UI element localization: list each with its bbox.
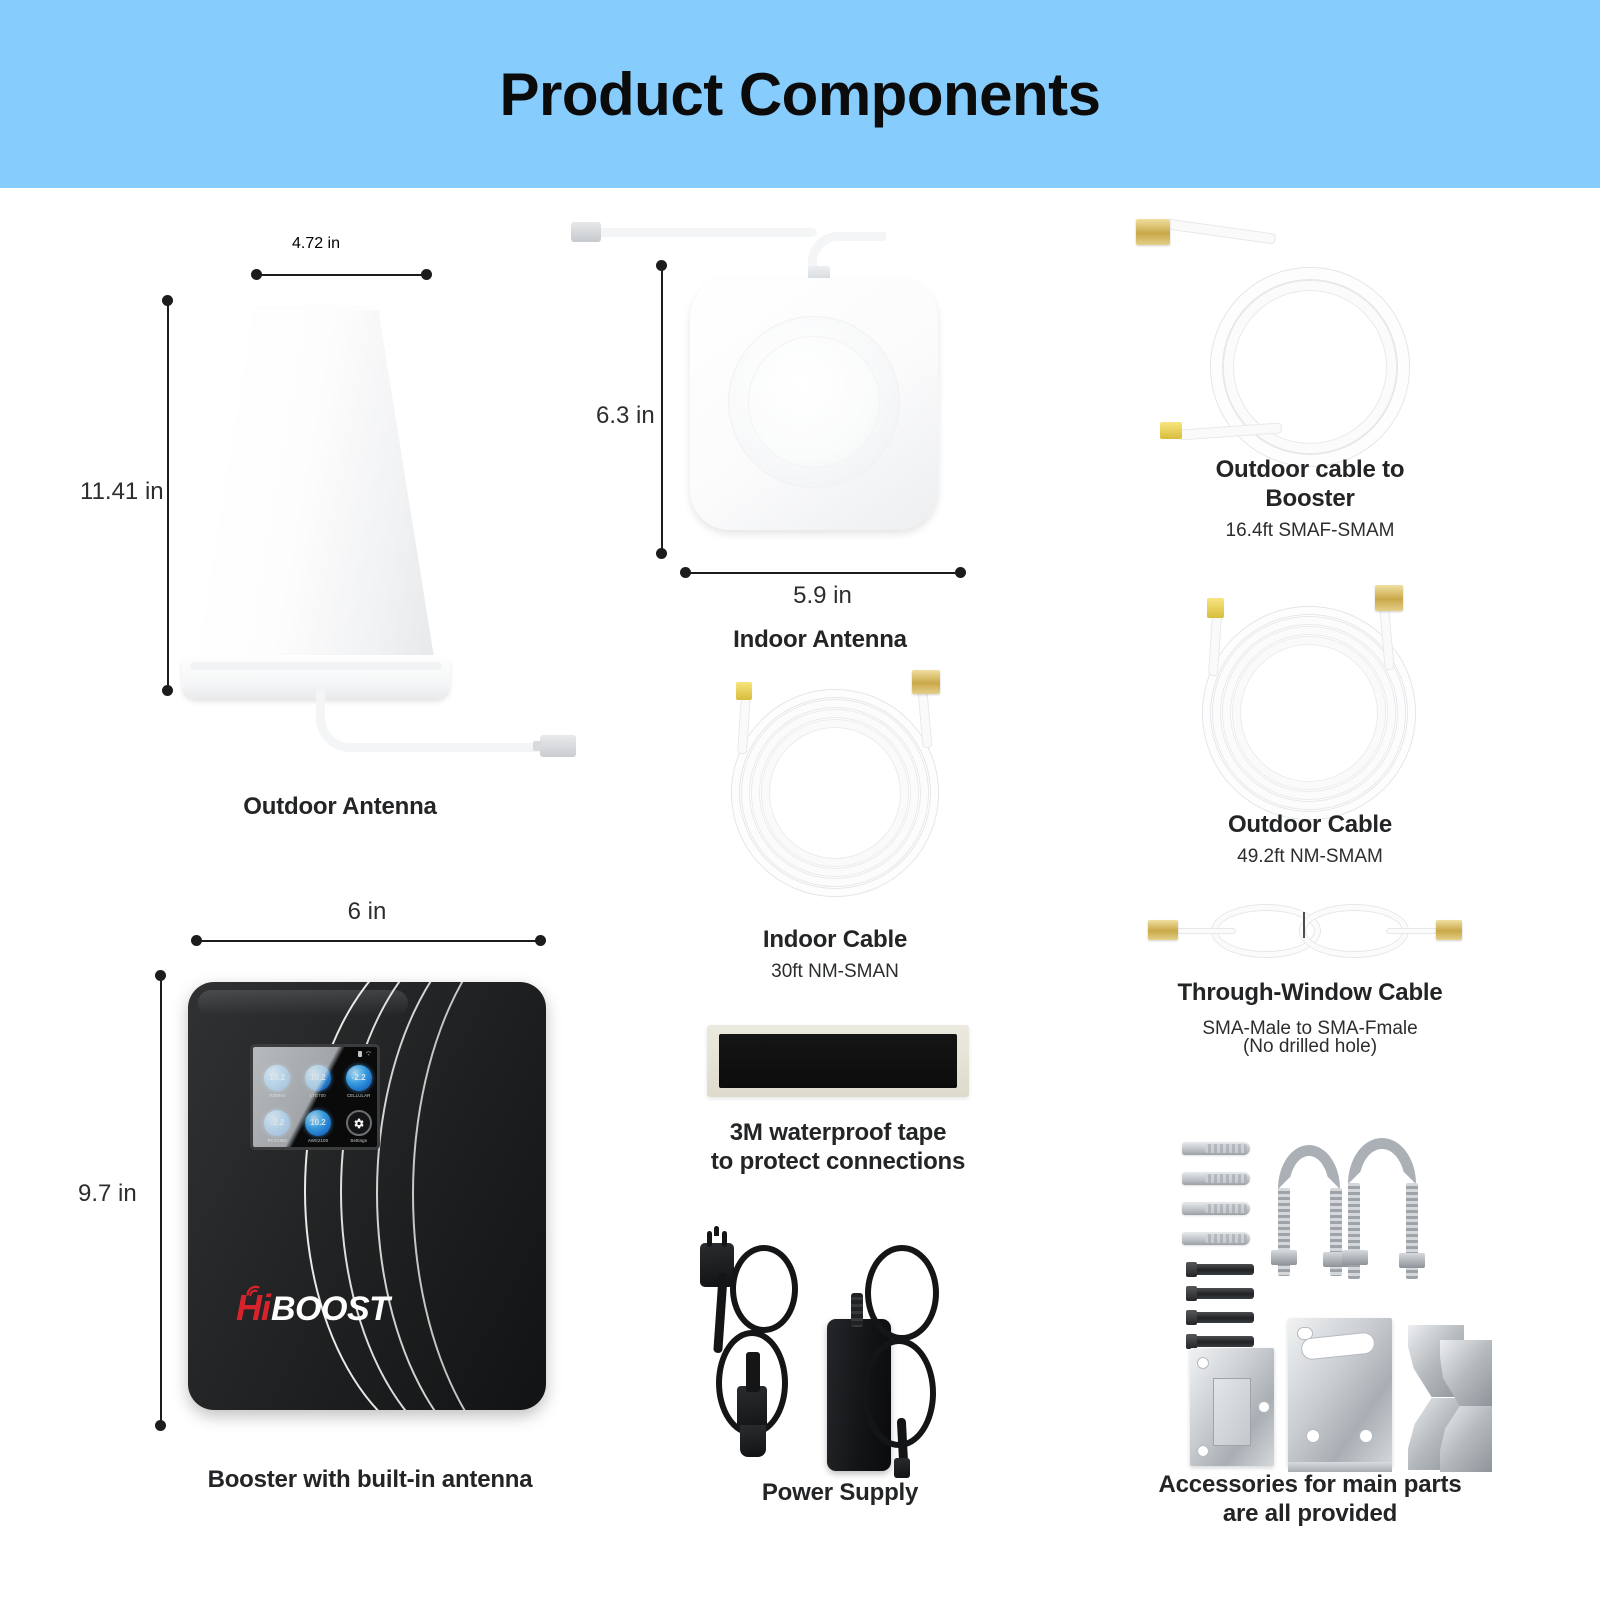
wall-anchor bbox=[1182, 1142, 1250, 1155]
signal-orb-icon: 10.2 bbox=[305, 1065, 331, 1091]
logo-hi-text: Hi bbox=[236, 1292, 270, 1324]
plate-hole bbox=[1307, 1430, 1319, 1442]
signal-orb-icon: -2.2 bbox=[346, 1065, 372, 1091]
sma-male-connector bbox=[1148, 920, 1178, 940]
wifi-icon bbox=[365, 1050, 372, 1057]
outdoor-antenna-width-label: 4.72 in bbox=[196, 235, 436, 253]
through-window-cable-caption: Through-Window Cable bbox=[1130, 978, 1490, 1007]
ac-cord-upper-loop bbox=[730, 1245, 798, 1333]
plate-hole bbox=[1360, 1430, 1372, 1442]
outdoor-antenna-base-seam bbox=[190, 662, 442, 670]
gear-icon bbox=[346, 1110, 372, 1136]
accessories-caption-line2: are all provided bbox=[1120, 1499, 1500, 1528]
outdoor-antenna-width-rule bbox=[256, 274, 426, 276]
mounting-screw bbox=[1190, 1336, 1254, 1347]
outdoor-antenna-height-label: 11.41 in bbox=[80, 478, 164, 506]
through-window-cable-spec-line2: (No drilled hole) bbox=[1130, 1035, 1490, 1059]
indoor-antenna-height-rule bbox=[661, 265, 663, 553]
iec-cord bbox=[746, 1352, 760, 1392]
plate-slot bbox=[1213, 1378, 1251, 1446]
outdoor-cable-to-booster-caption-line2: Booster bbox=[1150, 484, 1470, 513]
sma-connector-male bbox=[912, 670, 940, 694]
dim-dot bbox=[656, 548, 667, 559]
mounting-screw bbox=[1190, 1264, 1254, 1275]
wall-anchor bbox=[1182, 1172, 1250, 1185]
outdoor-antenna-body bbox=[196, 310, 436, 670]
outdoor-cable-to-booster-spec: 16.4ft SMAF-SMAM bbox=[1150, 519, 1470, 543]
u-bolt-curve bbox=[1278, 1145, 1340, 1189]
dc-barrel-connector bbox=[894, 1458, 910, 1478]
sma-connector-female bbox=[736, 682, 752, 700]
outdoor-cable-caption: Outdoor Cable bbox=[1150, 810, 1470, 839]
dim-dot bbox=[162, 295, 173, 306]
indoor-antenna-height-label: 6.3 in bbox=[596, 402, 655, 430]
booster-display-screen[interactable]: 10.2 700MHz 10.2 LTE700 -2.2 CELLULAR -2… bbox=[250, 1044, 380, 1150]
cable-coil-ring bbox=[762, 720, 908, 866]
dim-dot bbox=[191, 935, 202, 946]
outdoor-antenna-cable bbox=[316, 690, 548, 752]
dim-dot bbox=[955, 567, 966, 578]
indoor-antenna-cable-run bbox=[597, 228, 817, 237]
dim-dot bbox=[535, 935, 546, 946]
logo-boost-text: BOOST bbox=[271, 1294, 389, 1325]
u-bolt-nut bbox=[1399, 1253, 1425, 1268]
indoor-antenna-width-label: 5.9 in bbox=[685, 582, 960, 610]
plate-hole bbox=[1198, 1446, 1208, 1456]
accessories-caption-line1: Accessories for main parts bbox=[1120, 1470, 1500, 1499]
outdoor-antenna-connector bbox=[540, 735, 576, 757]
plug-prong bbox=[722, 1231, 727, 1247]
outdoor-antenna-caption: Outdoor Antenna bbox=[140, 792, 540, 821]
display-tile[interactable]: 10.2 AWS2100 bbox=[298, 1104, 339, 1149]
strain-relief bbox=[851, 1293, 863, 1327]
wall-anchor bbox=[1182, 1232, 1250, 1245]
iec-socket-body bbox=[740, 1425, 766, 1457]
hiboost-logo: Hi BOOST bbox=[236, 1292, 389, 1324]
mounting-screw bbox=[1190, 1288, 1254, 1299]
signal-orb-icon: 10.2 bbox=[264, 1065, 290, 1091]
tape-surface bbox=[719, 1034, 957, 1088]
wall-anchor bbox=[1182, 1202, 1250, 1215]
dim-dot bbox=[155, 970, 166, 981]
sma-connector-male bbox=[1136, 219, 1170, 245]
ac-plug-head bbox=[700, 1243, 734, 1287]
outdoor-cable-spec: 49.2ft NM-SMAM bbox=[1150, 845, 1470, 869]
sma-connector-female bbox=[1207, 598, 1224, 618]
display-status-bar bbox=[358, 1050, 372, 1057]
mounting-screw bbox=[1190, 1312, 1254, 1323]
indoor-cable-spec: 30ft NM-SMAN bbox=[680, 960, 990, 984]
dim-dot bbox=[251, 269, 262, 280]
window-cable-center-tie bbox=[1303, 912, 1305, 938]
page-header: Product Components bbox=[0, 0, 1600, 188]
display-tile-settings[interactable]: Settings bbox=[338, 1104, 379, 1149]
indoor-antenna-width-rule bbox=[685, 572, 960, 574]
battery-icon bbox=[358, 1051, 362, 1057]
booster-height-rule bbox=[160, 975, 162, 1425]
booster-width-rule bbox=[196, 940, 540, 942]
sma-connector-female bbox=[1160, 422, 1182, 439]
indoor-antenna-inner-ring bbox=[748, 336, 880, 468]
tape-caption-line1: 3M waterproof tape bbox=[680, 1118, 996, 1147]
u-bolt-nut bbox=[1271, 1250, 1297, 1265]
plug-ground-prong bbox=[714, 1226, 719, 1236]
dim-dot bbox=[656, 260, 667, 271]
window-cable-lead-right bbox=[1386, 928, 1442, 934]
outdoor-antenna-height-rule bbox=[167, 300, 169, 690]
plug-prong bbox=[707, 1231, 712, 1247]
outdoor-cable-to-booster-caption-line1: Outdoor cable to bbox=[1150, 455, 1470, 484]
u-bolt-nut bbox=[1342, 1250, 1368, 1265]
booster-height-label: 9.7 in bbox=[78, 1180, 137, 1208]
dc-cable-upper-loop bbox=[865, 1245, 939, 1341]
window-cable-lead-left bbox=[1174, 928, 1236, 934]
dim-dot bbox=[680, 567, 691, 578]
display-tile-grid: 10.2 700MHz 10.2 LTE700 -2.2 CELLULAR -2… bbox=[257, 1059, 379, 1149]
dim-dot bbox=[162, 685, 173, 696]
display-tile[interactable]: 10.2 LTE700 bbox=[298, 1059, 339, 1104]
u-bolt-curve bbox=[1348, 1138, 1416, 1184]
indoor-antenna-caption: Indoor Antenna bbox=[640, 625, 1000, 654]
booster-caption: Booster with built-in antenna bbox=[170, 1465, 570, 1494]
signal-orb-icon: -2.2 bbox=[264, 1110, 290, 1136]
signal-orb-icon: 10.2 bbox=[305, 1110, 331, 1136]
display-tile[interactable]: 10.2 700MHz bbox=[257, 1059, 298, 1104]
power-supply-caption: Power Supply bbox=[690, 1478, 990, 1507]
indoor-antenna-cable-connector bbox=[571, 222, 601, 242]
cable-coil-ring bbox=[1233, 637, 1385, 789]
display-tile[interactable]: -2.2 CELLULAR bbox=[338, 1059, 379, 1104]
dim-dot bbox=[421, 269, 432, 280]
page-title: Product Components bbox=[500, 60, 1101, 129]
product-components-infographic: Product Components 4.72 in 11.41 in Outd… bbox=[0, 0, 1600, 1600]
plate-hole bbox=[1298, 1328, 1312, 1339]
sma-connector-male bbox=[1375, 585, 1403, 611]
indoor-cable-caption: Indoor Cable bbox=[680, 925, 990, 954]
plate-hole bbox=[1259, 1402, 1269, 1412]
sma-female-connector bbox=[1436, 920, 1462, 940]
tape-caption-line2: to protect connections bbox=[680, 1147, 996, 1176]
display-tile[interactable]: -2.2 PCS1900 bbox=[257, 1104, 298, 1149]
plate-hole bbox=[1198, 1358, 1208, 1368]
dim-dot bbox=[155, 1420, 166, 1431]
booster-width-label: 6 in bbox=[188, 898, 546, 926]
booster-device-body: 10.2 700MHz 10.2 LTE700 -2.2 CELLULAR -2… bbox=[188, 982, 546, 1410]
cable-lead-top bbox=[1166, 218, 1276, 244]
